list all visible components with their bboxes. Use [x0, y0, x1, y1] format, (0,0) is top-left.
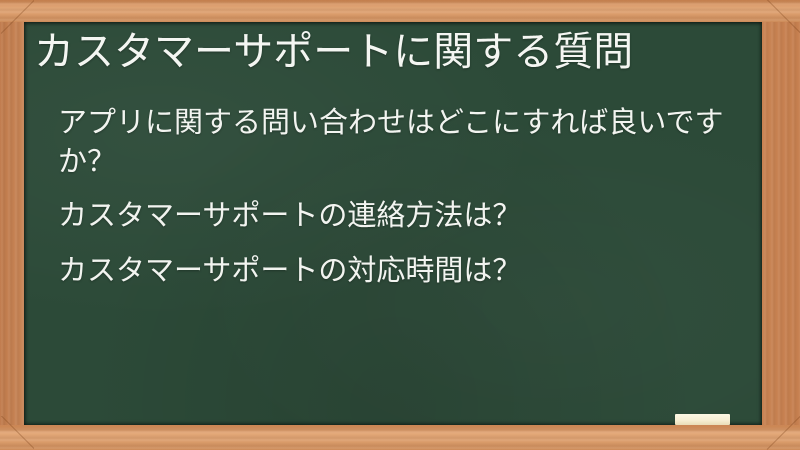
chalkboard-surface: カスタマーサポートに関する質問 アプリに関する問い合わせはどこにすれば良いですか…: [24, 22, 762, 425]
frame-corner-bottom-right: [766, 416, 800, 450]
question-list: アプリに関する問い合わせはどこにすれば良いですか？ カスタマーサポートの連絡方法…: [58, 104, 748, 290]
slide-title: カスタマーサポートに関する質問: [34, 27, 633, 78]
chalk-stick-icon: [675, 414, 730, 425]
frame-top-rail: [0, 0, 800, 22]
question-item: カスタマーサポートの対応時間は？: [58, 252, 748, 291]
chalkboard-content: カスタマーサポートに関する質問 アプリに関する問い合わせはどこにすれば良いですか…: [24, 22, 762, 425]
chalkboard-slide: カスタマーサポートに関する質問 アプリに関する問い合わせはどこにすれば良いですか…: [0, 0, 800, 450]
question-item: カスタマーサポートの連絡方法は？: [58, 197, 748, 236]
frame-bottom-rail: [0, 425, 800, 450]
frame-corner-top-right: [766, 0, 800, 34]
question-item: アプリに関する問い合わせはどこにすれば良いですか？: [58, 104, 748, 181]
